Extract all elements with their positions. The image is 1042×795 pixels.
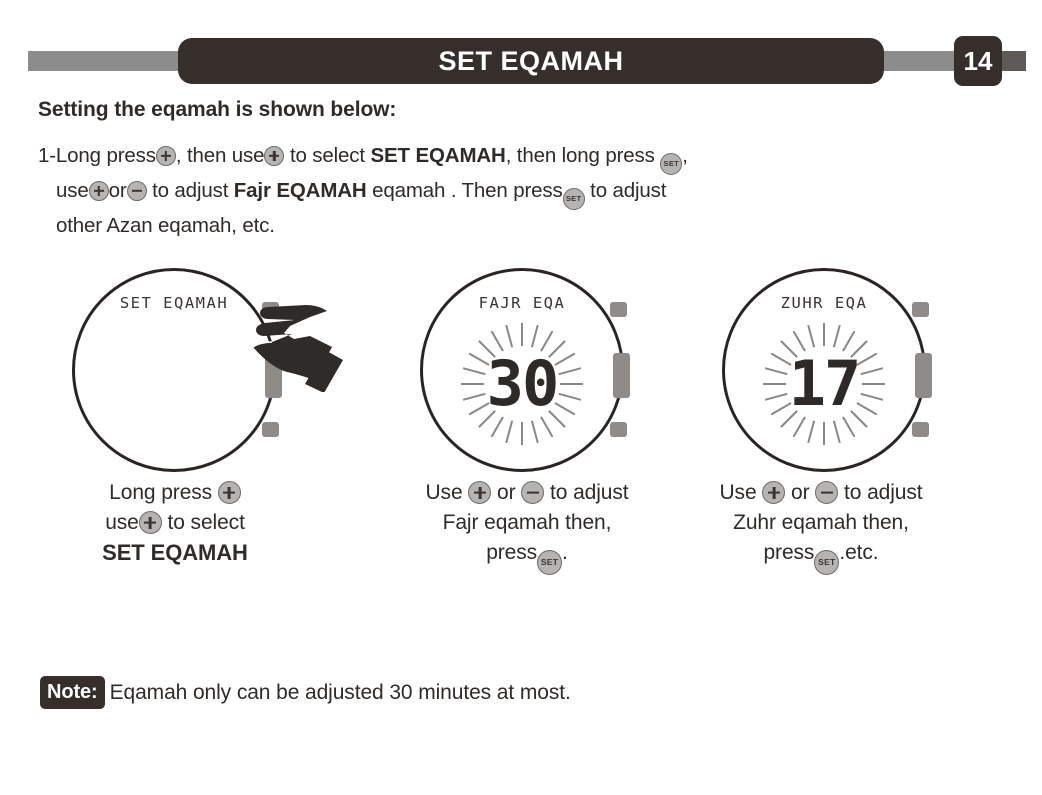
watch-value-area: 17 xyxy=(722,324,926,444)
caption-text: .etc. xyxy=(839,541,878,564)
caption-line-3: pressSET.etc. xyxy=(656,538,986,575)
set-button-icon: SET xyxy=(563,188,585,210)
page-header: SET EQAMAH xyxy=(0,38,1042,84)
steps-block: 1-Long press, then use to select SET EQA… xyxy=(38,140,1018,241)
minus-button-icon xyxy=(815,481,838,504)
caption-text: Use xyxy=(425,481,462,504)
caption-text: press xyxy=(486,541,537,564)
plus-button-icon xyxy=(139,511,162,534)
minus-button-icon xyxy=(127,181,147,201)
section-lead: Setting the eqamah is shown below: xyxy=(38,98,396,122)
watch-value-area: 30 xyxy=(420,324,624,444)
watch-diagrams: SET EQAMAH FAJR EQA 30 ZUHR EQA 17 xyxy=(0,268,1042,478)
plus-button-icon xyxy=(468,481,491,504)
step2-text-f: to adjust xyxy=(590,179,666,202)
caption-text: use xyxy=(105,511,139,534)
plus-button-icon xyxy=(264,146,284,166)
set-button-icon: SET xyxy=(660,153,682,175)
plus-button-icon xyxy=(89,181,109,201)
watch-value: 17 xyxy=(722,324,926,444)
minus-button-icon xyxy=(521,481,544,504)
step2-text-a: use xyxy=(56,179,89,202)
step2-text-b: or xyxy=(109,179,127,202)
page-number-badge: 14 xyxy=(954,36,1002,86)
watch-lcd-label: FAJR EQA xyxy=(420,294,624,312)
step2-text-c: to adjust xyxy=(152,179,228,202)
caption-line-1: Use or to adjust xyxy=(656,478,986,508)
caption-text: Use xyxy=(719,481,756,504)
caption-line-2: Fajr eqamah then, xyxy=(362,508,692,538)
caption-set-eqamah: Long press use to select SET EQAMAH xyxy=(10,478,340,568)
caption-line-3: SET EQAMAH xyxy=(10,538,340,568)
watch-diagram-fajr-eqa: FAJR EQA 30 xyxy=(420,268,634,476)
plus-button-icon xyxy=(156,146,176,166)
caption-text: or xyxy=(791,481,809,504)
caption-fajr-eqa: Use or to adjust Fajr eqamah then, press… xyxy=(362,478,692,575)
caption-line-1: Long press xyxy=(10,478,340,508)
watch-value: 30 xyxy=(420,324,624,444)
watch-diagram-zuhr-eqa: ZUHR EQA 17 xyxy=(722,268,936,476)
watch-lcd-label: SET EQAMAH xyxy=(72,294,276,312)
note-block: Note:Eqamah only can be adjusted 30 minu… xyxy=(40,676,571,709)
header-rail-left xyxy=(28,51,188,71)
page-title: SET EQAMAH xyxy=(178,38,884,84)
step1-text-b: , then use xyxy=(176,144,265,167)
set-button-icon: SET xyxy=(814,550,839,575)
watch-lcd-label: ZUHR EQA xyxy=(722,294,926,312)
caption-text: Long press xyxy=(109,481,212,504)
pointing-hand-icon xyxy=(248,300,344,392)
caption-line-2: Zuhr eqamah then, xyxy=(656,508,986,538)
step1-text-f: , xyxy=(682,144,688,167)
caption-text: . xyxy=(562,541,568,564)
plus-button-icon xyxy=(218,481,241,504)
step-line-3: other Azan eqamah, etc. xyxy=(38,210,1018,241)
step1-text-a: 1-Long press xyxy=(38,144,156,167)
step2-bold-term: Fajr EQAMAH xyxy=(234,179,367,202)
header-plate: SET EQAMAH xyxy=(178,38,884,84)
header-rail-cap xyxy=(1002,51,1026,71)
caption-line-1: Use or to adjust xyxy=(362,478,692,508)
step2-text-e: eqamah . Then press xyxy=(372,179,563,202)
note-text: Eqamah only can be adjusted 30 minutes a… xyxy=(110,681,571,704)
step1-text-c: to select xyxy=(290,144,365,167)
caption-zuhr-eqa: Use or to adjust Zuhr eqamah then, press… xyxy=(656,478,986,575)
set-button-icon: SET xyxy=(537,550,562,575)
step1-bold-term: SET EQAMAH xyxy=(371,144,506,167)
watch-bottom-button[interactable] xyxy=(262,422,279,437)
caption-text: press xyxy=(763,541,814,564)
step-line-2: useor to adjust Fajr EQAMAH eqamah . The… xyxy=(38,175,1018,210)
step-line-1: 1-Long press, then use to select SET EQA… xyxy=(38,140,1018,175)
caption-text: to select xyxy=(168,511,245,534)
note-badge: Note: xyxy=(40,676,105,709)
header-rail-right xyxy=(872,51,956,71)
caption-line-3: pressSET. xyxy=(362,538,692,575)
caption-text: or xyxy=(497,481,515,504)
caption-text: to adjust xyxy=(844,481,923,504)
step1-text-e: , then long press xyxy=(506,144,655,167)
caption-line-2: use to select xyxy=(10,508,340,538)
plus-button-icon xyxy=(762,481,785,504)
caption-text: to adjust xyxy=(550,481,629,504)
